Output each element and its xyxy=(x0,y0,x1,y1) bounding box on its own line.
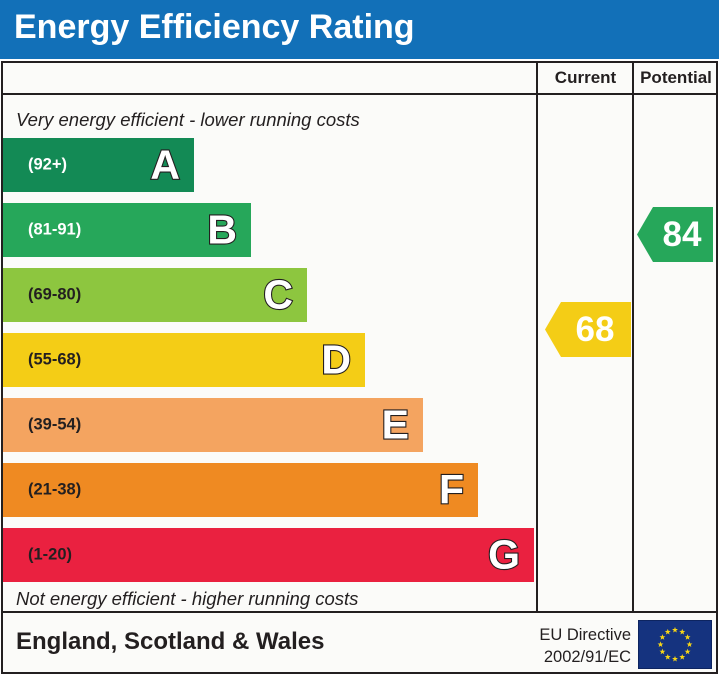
eu-star xyxy=(665,629,671,635)
eu-star xyxy=(658,641,664,647)
band-range-e: (39-54) xyxy=(28,416,81,435)
eu-star xyxy=(672,627,678,633)
band-letter-e: E xyxy=(382,405,409,446)
rating-band-a: (92+)A xyxy=(3,138,194,192)
caption-inefficient: Not energy efficient - higher running co… xyxy=(16,588,358,610)
directive-line-2: 2002/91/EC xyxy=(521,646,631,668)
rating-band-g: (1-20)G xyxy=(3,528,534,582)
band-letter-a: A xyxy=(150,145,180,186)
band-letter-g: G xyxy=(488,535,520,576)
rating-band-f: (21-38)F xyxy=(3,463,478,517)
column-header-current: Current xyxy=(538,61,633,94)
current-rating-value: 68 xyxy=(562,312,615,347)
rating-band-d: (55-68)D xyxy=(3,333,365,387)
band-letter-c: C xyxy=(263,275,293,316)
column-divider-1 xyxy=(536,61,538,613)
band-range-d: (55-68) xyxy=(28,351,81,370)
footer-region-label: England, Scotland & Wales xyxy=(16,628,324,656)
header-divider xyxy=(1,93,718,95)
eu-stars-icon xyxy=(639,621,711,668)
table-header-row: Current Potential xyxy=(1,61,718,94)
rating-band-b: (81-91)B xyxy=(3,203,251,257)
potential-rating-marker: 84 xyxy=(637,207,713,262)
band-range-a: (92+) xyxy=(28,156,67,175)
column-divider-2 xyxy=(632,61,634,613)
title-bar: Energy Efficiency Rating xyxy=(0,0,719,59)
eu-star xyxy=(679,654,685,660)
eu-star xyxy=(685,634,691,640)
eu-star xyxy=(672,656,678,662)
eu-flag-icon xyxy=(638,620,712,669)
column-header-potential: Potential xyxy=(634,61,718,94)
energy-efficiency-rating-chart: Energy Efficiency Rating Current Potenti… xyxy=(0,0,719,675)
rating-band-c: (69-80)C xyxy=(3,268,307,322)
directive-line-1: EU Directive xyxy=(521,624,631,646)
band-letter-d: D xyxy=(321,340,351,381)
band-range-f: (21-38) xyxy=(28,481,81,500)
band-range-g: (1-20) xyxy=(28,546,72,565)
band-range-c: (69-80) xyxy=(28,286,81,305)
current-rating-marker: 68 xyxy=(545,302,631,357)
caption-efficient: Very energy efficient - lower running co… xyxy=(16,109,360,131)
footer-directive: EU Directive 2002/91/EC xyxy=(521,624,631,669)
eu-star xyxy=(685,649,691,655)
rating-band-e: (39-54)E xyxy=(3,398,423,452)
eu-star xyxy=(659,649,665,655)
eu-star xyxy=(659,634,665,640)
page-title: Energy Efficiency Rating xyxy=(14,8,415,47)
band-range-b: (81-91) xyxy=(28,221,81,240)
eu-star xyxy=(665,654,671,660)
band-letter-f: F xyxy=(439,470,464,511)
potential-rating-value: 84 xyxy=(649,217,702,252)
eu-star xyxy=(679,629,685,635)
eu-star xyxy=(687,641,693,647)
band-letter-b: B xyxy=(207,210,237,251)
